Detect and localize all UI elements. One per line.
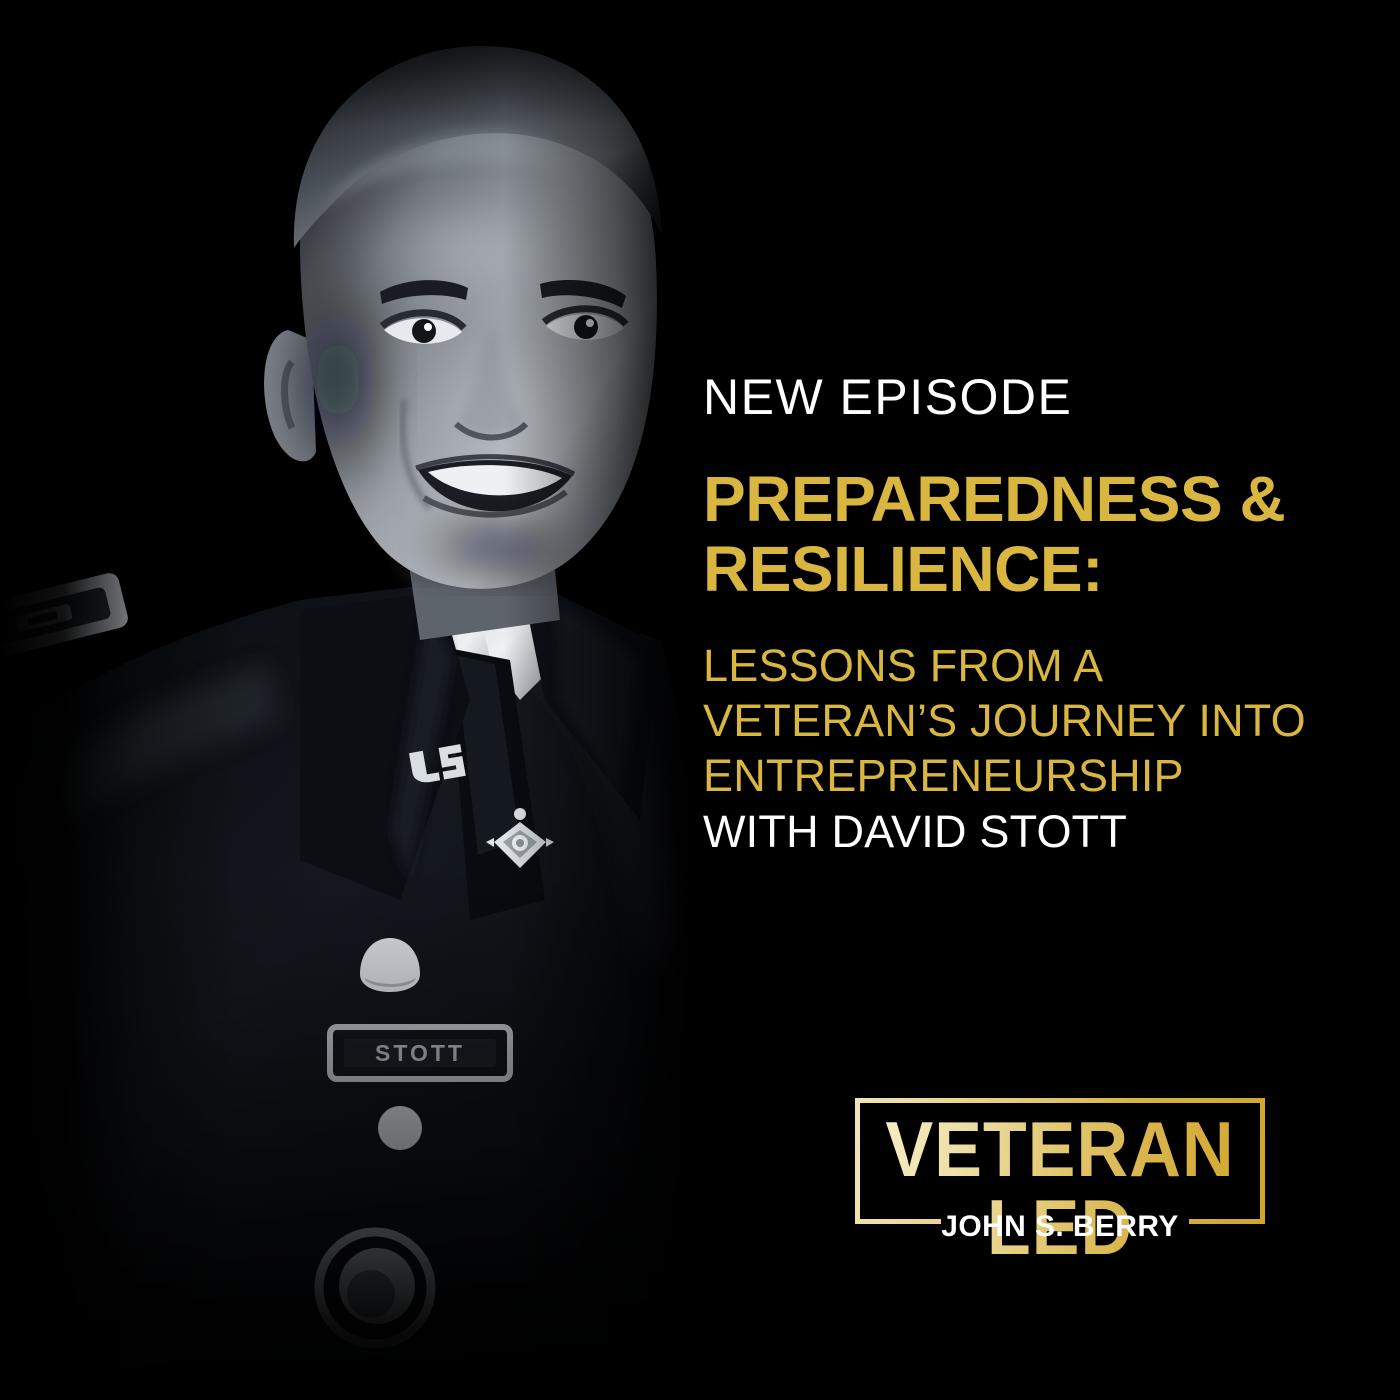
veteran-led-logo: VETERAN LED JOHN S. BERRY — [855, 1098, 1265, 1224]
episode-guest-line: WITH DAVID STOTT — [703, 805, 1363, 860]
episode-subhead-line-1: LESSONS FROM A — [703, 639, 1363, 694]
episode-subhead-line-3: ENTREPRENEURSHIP — [703, 749, 1363, 804]
episode-headline-line-1: PREPAREDNESS & — [703, 464, 1363, 534]
logo-byline: JOHN S. BERRY — [855, 1212, 1265, 1242]
episode-headline: PREPAREDNESS & RESILIENCE: — [703, 464, 1363, 605]
episode-headline-line-2: RESILIENCE: — [703, 534, 1363, 604]
guest-portrait: STOTT — [0, 0, 700, 1400]
podcast-cover-art: STOTT NEW EPISODE PREPAREDNESS & RESILIE… — [0, 0, 1400, 1400]
episode-subhead: LESSONS FROM A VETERAN’S JOURNEY INTO EN… — [703, 639, 1363, 804]
episode-text-block: NEW EPISODE PREPAREDNESS & RESILIENCE: L… — [703, 372, 1363, 860]
episode-subhead-line-2: VETERAN’S JOURNEY INTO — [703, 694, 1363, 749]
new-episode-eyebrow: NEW EPISODE — [703, 372, 1363, 422]
portrait-illustration: STOTT — [0, 0, 700, 1400]
